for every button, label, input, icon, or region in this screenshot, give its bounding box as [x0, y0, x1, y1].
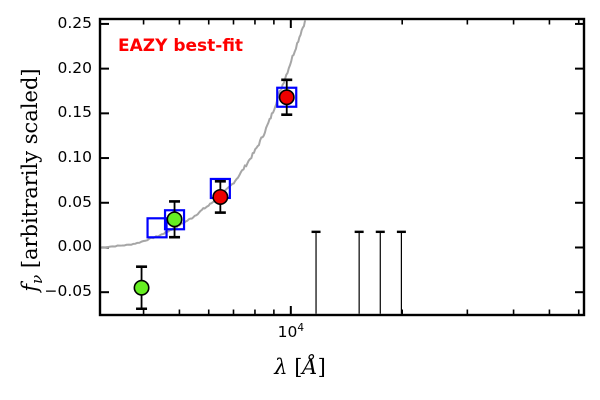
y-tick-label: −0.05: [30, 282, 92, 300]
observed-photometry-point: [167, 212, 181, 226]
x-tick-label: 104: [256, 322, 326, 341]
figure-canvas: fν [arbitrarily scaled] λ [Å] EAZY best-…: [0, 0, 600, 400]
y-tick-label: 0.10: [30, 148, 92, 166]
y-tick-label: 0.00: [30, 237, 92, 255]
y-tick-label: 0.25: [30, 14, 92, 32]
axes-frame: [100, 19, 584, 315]
observed-photometry-point: [280, 90, 294, 104]
observed-photometry-point: [213, 190, 227, 204]
y-tick-label: 0.20: [30, 59, 92, 77]
x-axis-label: λ [Å]: [0, 355, 600, 379]
y-tick-label: 0.15: [30, 103, 92, 121]
data-layer: [100, 19, 406, 315]
y-tick-label: 0.05: [30, 193, 92, 211]
eazy-best-fit-annotation: EAZY best-fit: [118, 36, 243, 56]
observed-photometry-point: [134, 281, 148, 295]
